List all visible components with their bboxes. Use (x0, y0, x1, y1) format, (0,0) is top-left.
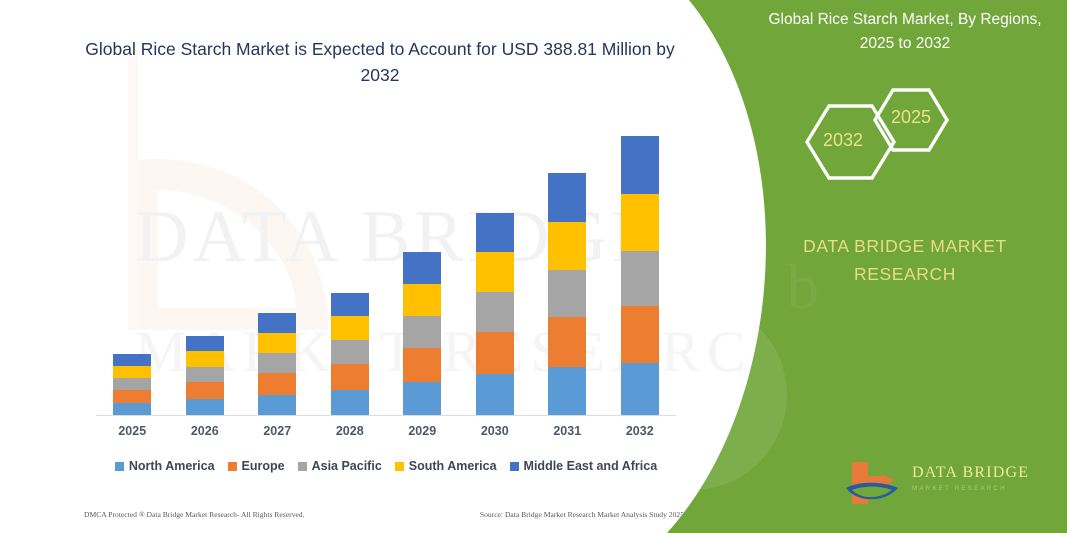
logo-tagline: MARKET RESEARCH (912, 485, 1007, 492)
bar-segment-2030-2[interactable] (476, 292, 514, 332)
brand-name-line-1: DATA BRIDGE MARKET (767, 232, 1043, 260)
bar-2032[interactable] (621, 136, 659, 416)
bar-segment-2028-0[interactable] (331, 390, 369, 416)
bar-segment-2026-1[interactable] (186, 382, 224, 399)
x-axis-label-2027: 2027 (241, 424, 313, 438)
bar-segment-2026-0[interactable] (186, 399, 224, 416)
logo-wordmark: DATA BRIDGE (912, 464, 1029, 482)
legend-item-0[interactable]: North America (115, 459, 215, 473)
bar-segment-2031-1[interactable] (548, 317, 586, 367)
bar-segment-2027-4[interactable] (258, 313, 296, 333)
legend-swatch-icon-1 (228, 462, 237, 471)
bar-segment-2029-3[interactable] (403, 284, 441, 316)
bar-segment-2031-3[interactable] (548, 222, 586, 270)
bar-segment-2028-3[interactable] (331, 316, 369, 340)
bar-chart-plot-area (96, 104, 676, 416)
x-axis-line (96, 415, 676, 416)
hexagon-group: 2032 2025 (767, 80, 1047, 210)
hexagon-back-label: 2032 (823, 130, 863, 151)
legend-label-3: South America (409, 459, 497, 473)
legend-swatch-icon-4 (510, 462, 519, 471)
bar-2030[interactable] (476, 213, 514, 416)
bar-segment-2030-3[interactable] (476, 252, 514, 292)
bar-segment-2032-2[interactable] (621, 251, 659, 306)
bar-segment-2031-0[interactable] (548, 367, 586, 416)
bar-segment-2026-3[interactable] (186, 351, 224, 367)
legend-label-0: North America (129, 459, 215, 473)
legend-label-4: Middle East and Africa (524, 459, 658, 473)
bar-segment-2027-2[interactable] (258, 353, 296, 373)
bar-segment-2032-0[interactable] (621, 363, 659, 416)
brand-name-block: DATA BRIDGE MARKET RESEARCH (767, 232, 1043, 288)
footer-source: Source: Data Bridge Market Research Mark… (480, 510, 684, 519)
bar-2031[interactable] (548, 173, 586, 416)
bar-segment-2029-4[interactable] (403, 252, 441, 284)
brand-name-line-2: RESEARCH (767, 260, 1043, 288)
legend-item-3[interactable]: South America (395, 459, 497, 473)
bar-segment-2029-1[interactable] (403, 348, 441, 382)
hexagon-front-label: 2025 (891, 107, 931, 128)
data-bridge-logo: DATA BRIDGE MARKET RESEARCH (842, 458, 1042, 512)
legend-item-2[interactable]: Asia Pacific (298, 459, 382, 473)
panel-title: Global Rice Starch Market, By Regions, 2… (767, 8, 1043, 56)
bar-segment-2030-0[interactable] (476, 374, 514, 416)
bar-segment-2032-3[interactable] (621, 194, 659, 251)
bar-segment-2028-1[interactable] (331, 364, 369, 390)
infographic-canvas: DATA BRIDGE MARKET RESEARCH Global Rice … (0, 0, 1067, 533)
legend-swatch-icon-0 (115, 462, 124, 471)
bar-segment-2025-4[interactable] (113, 354, 151, 366)
bar-2026[interactable] (186, 336, 224, 416)
x-axis-labels: 20252026202720282029203020312032 (96, 424, 676, 446)
legend-item-1[interactable]: Europe (228, 459, 285, 473)
x-axis-label-2031: 2031 (531, 424, 603, 438)
bar-segment-2025-3[interactable] (113, 366, 151, 378)
bar-segment-2027-0[interactable] (258, 395, 296, 416)
legend-item-4[interactable]: Middle East and Africa (510, 459, 658, 473)
x-axis-label-2025: 2025 (96, 424, 168, 438)
bar-segment-2029-2[interactable] (403, 316, 441, 348)
x-axis-label-2030: 2030 (459, 424, 531, 438)
bar-segment-2031-4[interactable] (548, 173, 586, 222)
footer-copyright: DMCA Protected ® Data Bridge Market Rese… (84, 510, 304, 519)
hexagon-shapes-icon (767, 80, 1047, 210)
legend-label-1: Europe (242, 459, 285, 473)
bar-segment-2026-4[interactable] (186, 336, 224, 351)
bar-2027[interactable] (258, 313, 296, 416)
bar-segment-2027-3[interactable] (258, 333, 296, 353)
footer-bar: DMCA Protected ® Data Bridge Market Rese… (84, 506, 684, 522)
bar-segment-2025-2[interactable] (113, 378, 151, 390)
bar-segment-2032-4[interactable] (621, 136, 659, 194)
x-axis-label-2026: 2026 (169, 424, 241, 438)
bar-segment-2028-2[interactable] (331, 340, 369, 364)
bar-2028[interactable] (331, 293, 369, 416)
x-axis-label-2028: 2028 (314, 424, 386, 438)
bar-segment-2026-2[interactable] (186, 367, 224, 382)
bar-segment-2031-2[interactable] (548, 270, 586, 317)
bar-segment-2030-4[interactable] (476, 213, 514, 252)
bar-segment-2029-0[interactable] (403, 382, 441, 416)
legend-swatch-icon-3 (395, 462, 404, 471)
x-axis-label-2029: 2029 (386, 424, 458, 438)
legend-label-2: Asia Pacific (312, 459, 382, 473)
bar-2025[interactable] (113, 354, 151, 416)
legend-swatch-icon-2 (298, 462, 307, 471)
bar-segment-2032-1[interactable] (621, 306, 659, 363)
bar-2029[interactable] (403, 252, 441, 416)
chart-legend: North AmericaEuropeAsia PacificSouth Ame… (96, 456, 676, 476)
bar-segment-2025-1[interactable] (113, 390, 151, 403)
chart-panel: DATA BRIDGE MARKET RESEARCH Global Rice … (0, 0, 760, 533)
x-axis-label-2032: 2032 (604, 424, 676, 438)
chart-title: Global Rice Starch Market is Expected to… (70, 36, 690, 88)
bar-segment-2030-1[interactable] (476, 332, 514, 374)
bar-segment-2028-4[interactable] (331, 293, 369, 316)
bar-segment-2027-1[interactable] (258, 373, 296, 395)
data-bridge-mark-icon (842, 458, 904, 508)
